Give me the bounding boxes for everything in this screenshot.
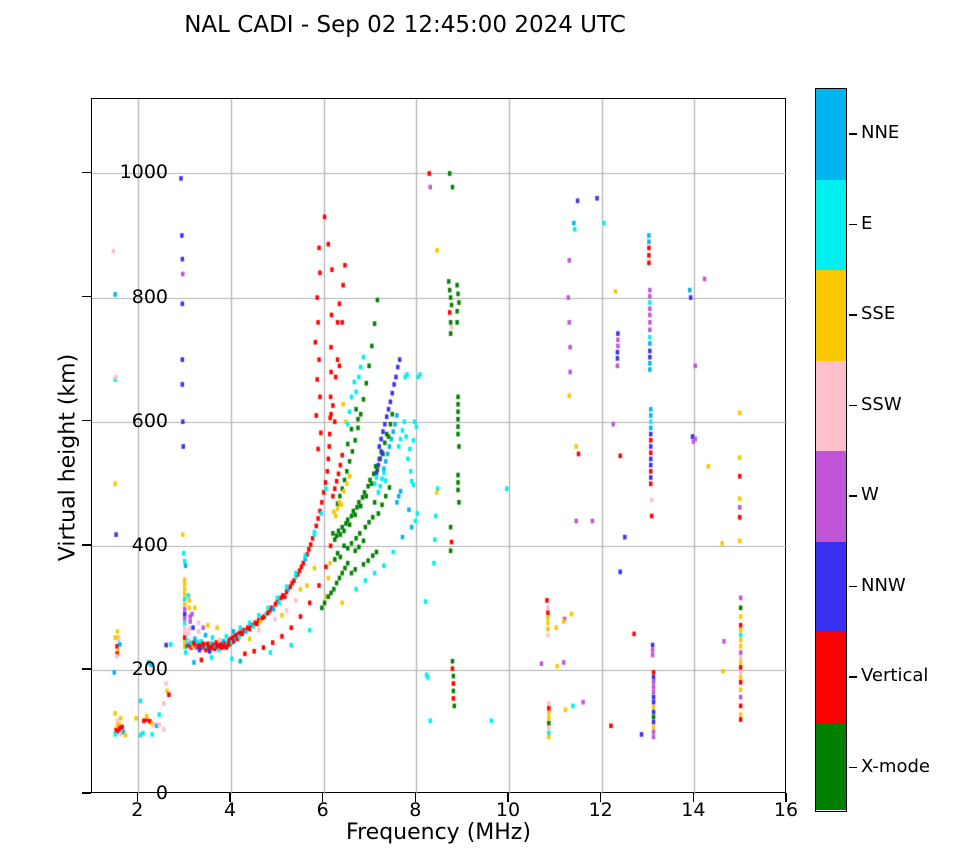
colorbar-tick xyxy=(849,405,857,407)
x-tick-label-10: 10 xyxy=(478,799,538,821)
colorbar-segment-x-mode xyxy=(816,723,846,811)
colorbar-tick xyxy=(849,224,857,226)
colorbar-segment-vertical xyxy=(816,632,846,723)
x-tick-label-8: 8 xyxy=(385,799,445,821)
y-axis-label: Virtual height (km) xyxy=(56,298,81,618)
x-tick-label-14: 14 xyxy=(663,799,723,821)
colorbar-label-nne: NNE xyxy=(861,122,899,143)
y-tick-label-800: 800 xyxy=(108,286,168,308)
ionogram-page: NAL CADI - Sep 02 12:45:00 2024 UTC 0200… xyxy=(0,0,958,857)
x-axis-label: Frequency (MHz) xyxy=(91,820,786,845)
colorbar-label-w: W xyxy=(861,484,879,505)
colorbar-label-nnw: NNW xyxy=(861,575,906,596)
y-tick-label-600: 600 xyxy=(108,410,168,432)
colorbar-tick xyxy=(849,495,857,497)
colorbar-segment-w xyxy=(816,451,846,542)
y-tick-label-400: 400 xyxy=(108,534,168,556)
colorbar-tick xyxy=(849,314,857,316)
colorbar-segment-ssw xyxy=(816,361,846,452)
colorbar-label-sse: SSE xyxy=(861,303,895,324)
y-tick-label-200: 200 xyxy=(108,658,168,680)
colorbar-segment-nnw xyxy=(816,542,846,633)
colorbar-tick xyxy=(849,676,857,678)
colorbar-segment-e xyxy=(816,180,846,271)
colorbar-label-vertical: Vertical xyxy=(861,665,928,686)
colorbar-label-x-mode: X-mode xyxy=(861,756,930,777)
colorbar-label-ssw: SSW xyxy=(861,394,902,415)
x-tick-label-4: 4 xyxy=(200,799,260,821)
colorbar-segment-nne xyxy=(816,89,846,180)
plot-area xyxy=(91,98,786,793)
y-tick-mark xyxy=(82,792,91,794)
colorbar-tick xyxy=(849,586,857,588)
x-tick-label-16: 16 xyxy=(756,799,816,821)
colorbar-segment-sse xyxy=(816,270,846,361)
scatter-canvas xyxy=(92,99,787,794)
y-tick-label-1000: 1000 xyxy=(108,161,168,183)
x-tick-label-2: 2 xyxy=(107,799,167,821)
x-tick-label-6: 6 xyxy=(293,799,353,821)
x-tick-label-12: 12 xyxy=(571,799,631,821)
colorbar-tick xyxy=(849,767,857,769)
y-tick-mark xyxy=(82,668,91,670)
y-tick-mark xyxy=(82,420,91,422)
y-tick-mark xyxy=(82,172,91,174)
colorbar-label-e: E xyxy=(861,213,872,234)
y-tick-mark xyxy=(82,296,91,298)
colorbar-tick xyxy=(849,133,857,135)
y-tick-mark xyxy=(82,544,91,546)
page-title: NAL CADI - Sep 02 12:45:00 2024 UTC xyxy=(0,12,810,38)
colorbar xyxy=(815,88,847,812)
